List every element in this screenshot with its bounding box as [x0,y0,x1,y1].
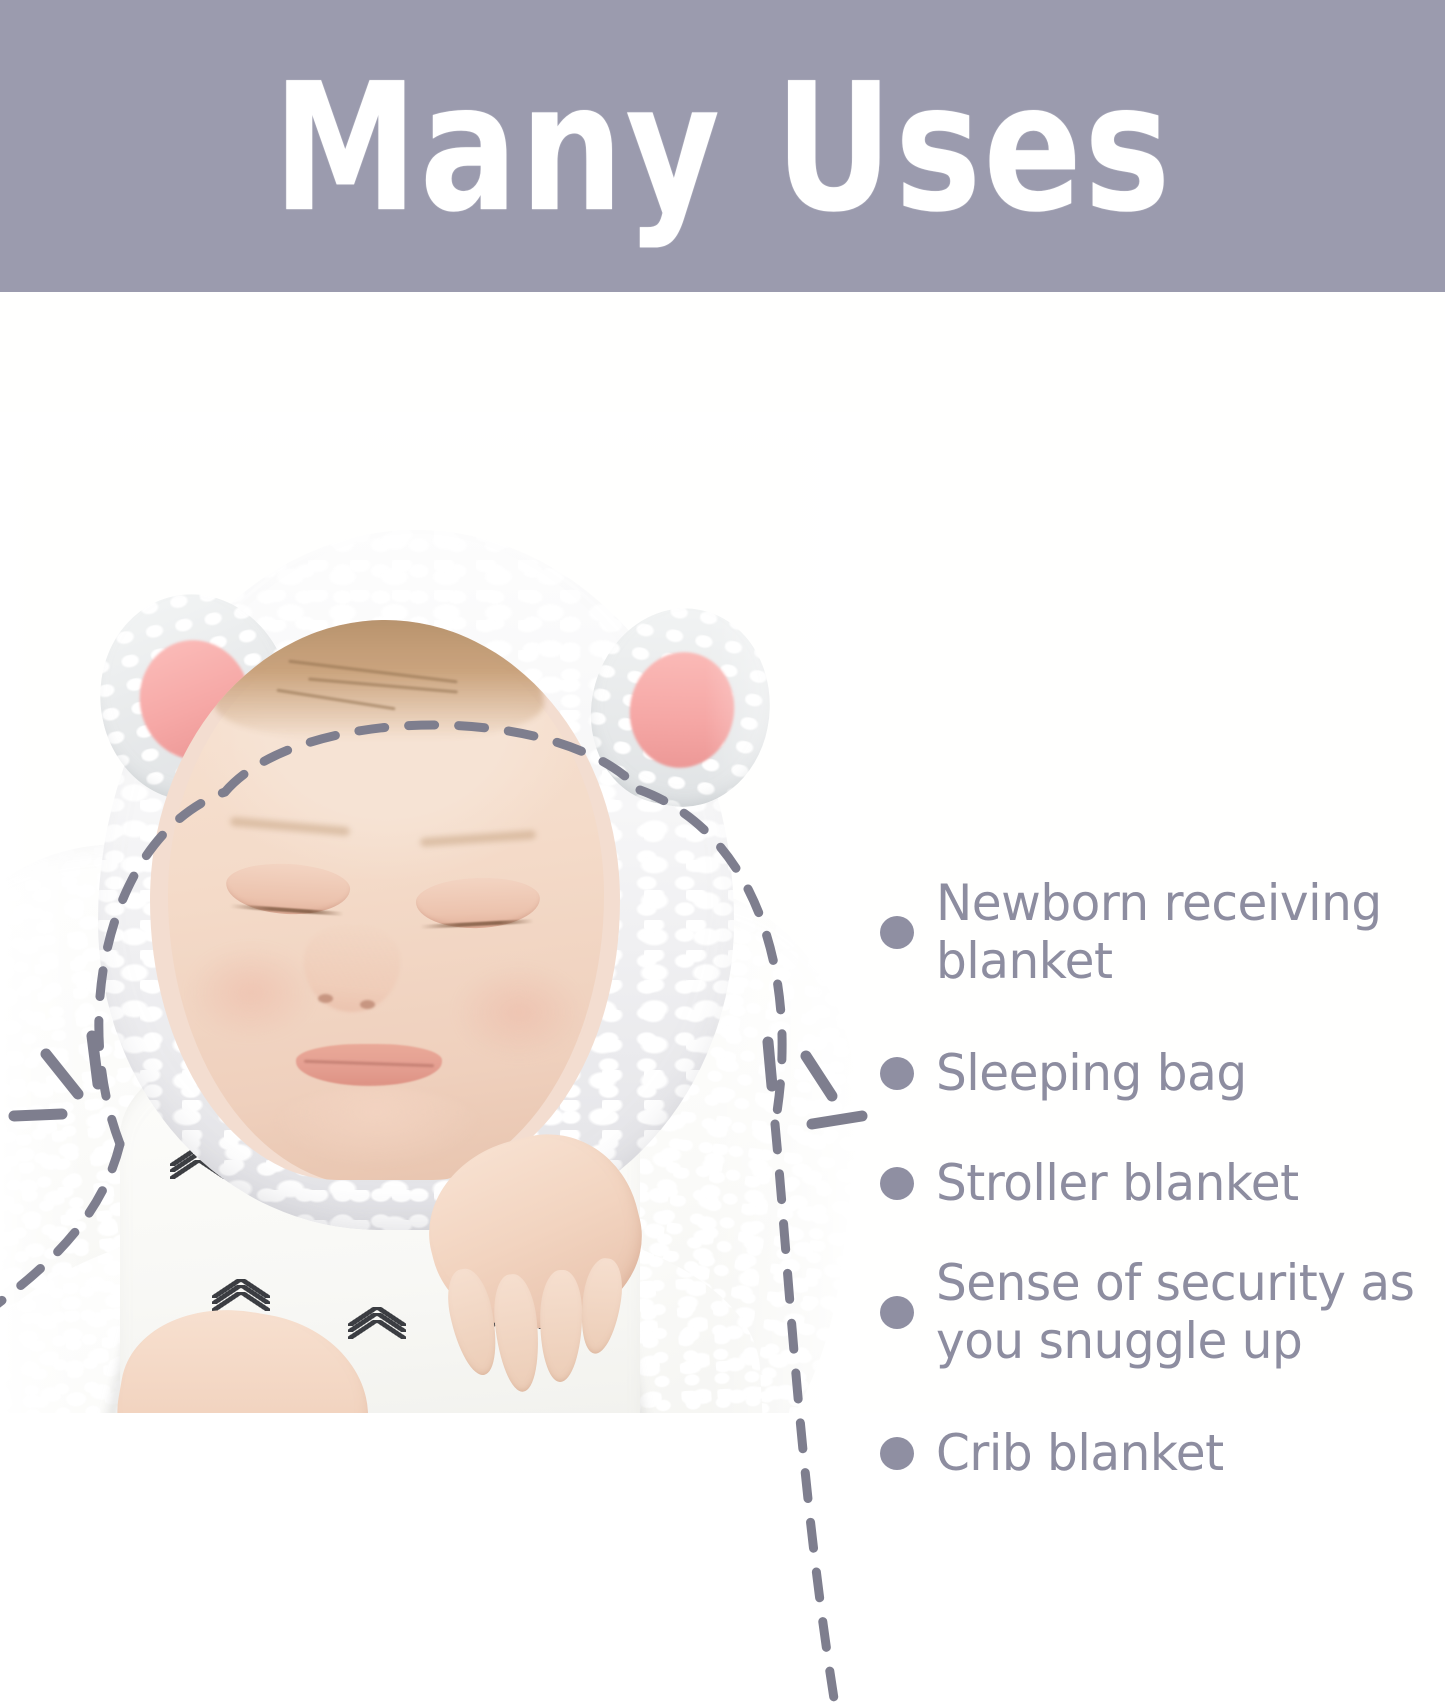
bullet-dot-icon [880,1167,914,1200]
chevron-print [420,1408,478,1413]
photo-stage [0,412,860,1413]
product-photo [0,412,860,1413]
bullet-dot-icon [880,1296,914,1329]
list-item[interactable]: Sleeping bag [880,1044,1445,1102]
bullet-dot-icon [880,916,914,949]
bullet-dot-icon [880,1437,914,1470]
baby-hair [214,620,544,740]
list-item-label: Sleeping bag [936,1044,1247,1102]
list-item[interactable]: Newborn receiving blanket [880,874,1445,990]
baby-head [168,626,604,1180]
baby-nostril-right [360,1000,375,1009]
header-banner: Many Uses [0,0,1445,292]
list-item-label: Stroller blanket [936,1154,1299,1212]
hood-opening [150,620,620,1180]
baby-eyebrow-right [420,830,536,847]
list-item-label: Crib blanket [936,1424,1224,1482]
list-item-label: Sense of security as you snuggle up [936,1254,1430,1370]
uses-list: Newborn receiving blanket Sleeping bag S… [880,584,1445,1705]
list-item-label: Newborn receiving blanket [936,874,1430,990]
list-item[interactable]: Sense of security as you snuggle up [880,1254,1445,1370]
list-item[interactable]: Crib blanket [880,1424,1445,1482]
baby-cheek-right [454,964,584,1060]
chevron-print [348,1294,406,1352]
baby-chin [272,1088,482,1168]
list-item[interactable]: Stroller blanket [880,1154,1445,1212]
content-area: Newborn receiving blanket Sleeping bag S… [0,292,1445,1413]
baby-eyebrow-left [230,817,350,836]
page-title: Many Uses [273,61,1173,238]
baby-cheek-left [186,944,316,1040]
bullet-dot-icon [880,1057,914,1090]
baby-nostril-left [318,994,333,1003]
